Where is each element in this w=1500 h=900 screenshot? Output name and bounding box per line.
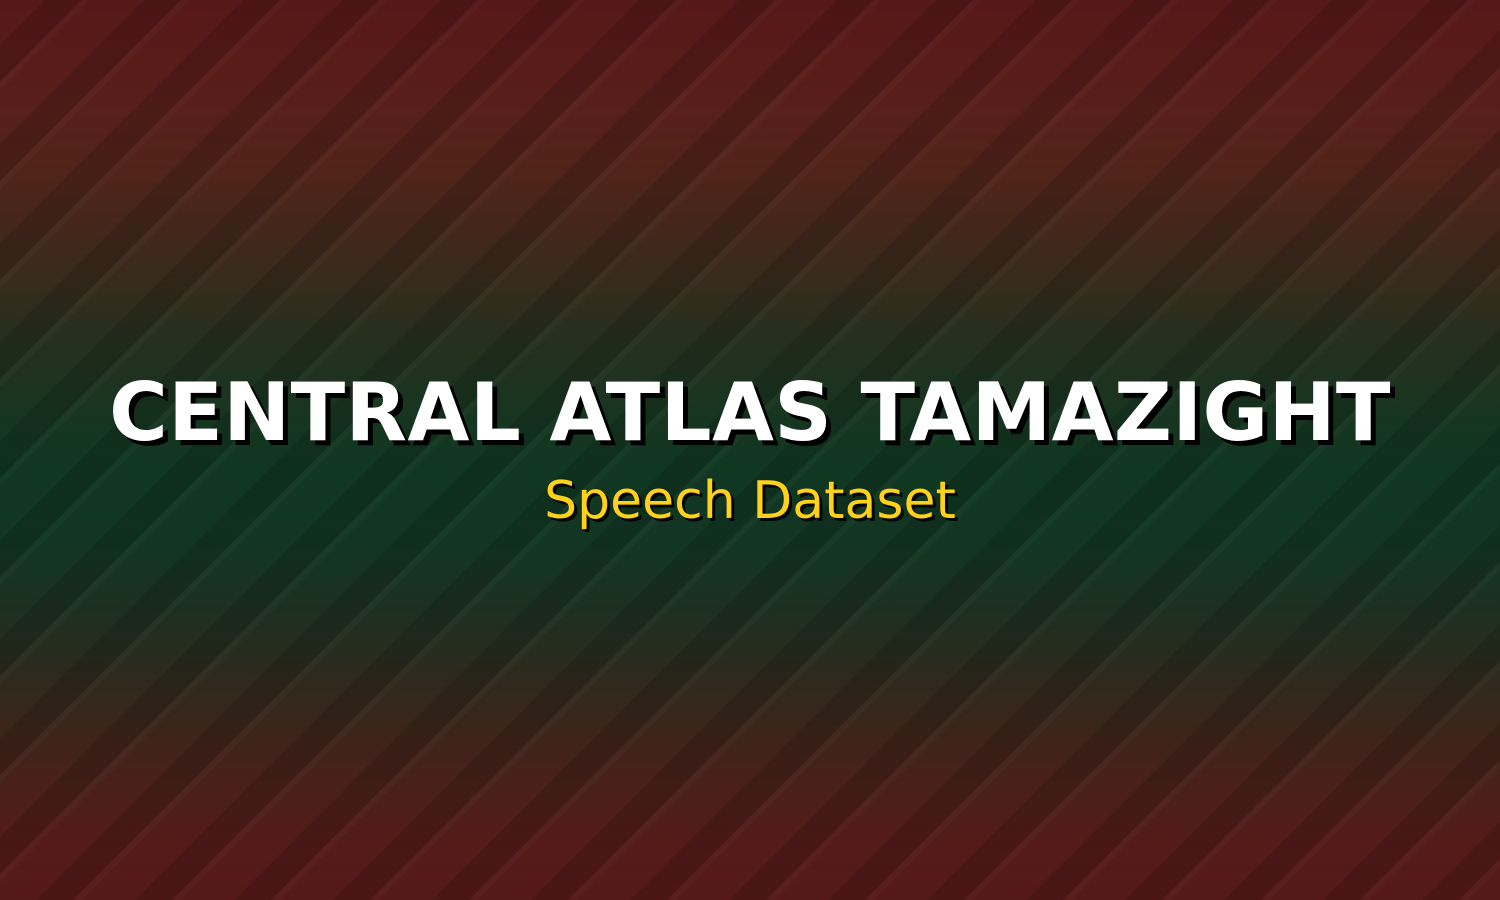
banner-content: CENTRAL ATLAS TAMAZIGHT Speech Dataset — [0, 0, 1500, 900]
title-banner: CENTRAL ATLAS TAMAZIGHT Speech Dataset — [0, 0, 1500, 900]
page-subtitle: Speech Dataset — [544, 475, 956, 527]
page-title: CENTRAL ATLAS TAMAZIGHT — [109, 373, 1391, 453]
